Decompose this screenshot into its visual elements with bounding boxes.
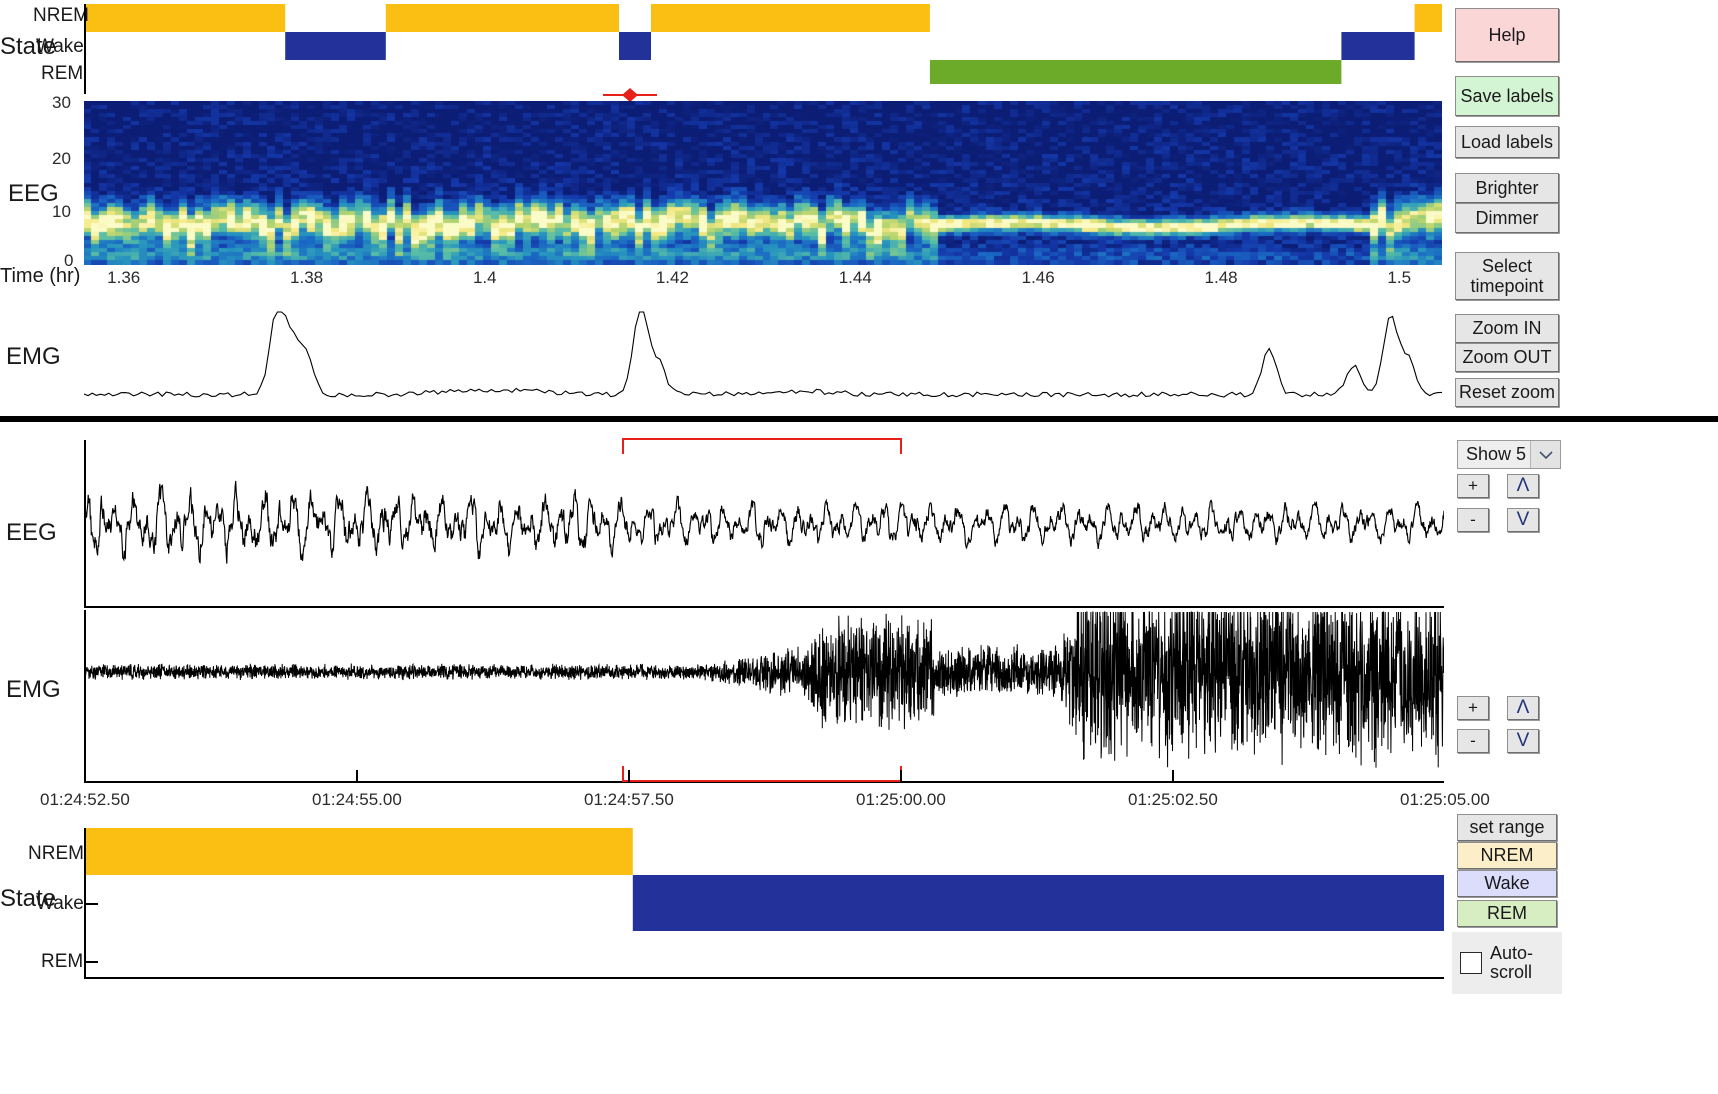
detail-state-axis-bottom [84, 977, 1444, 979]
emg-scale-minus-button[interactable]: - [1457, 729, 1489, 753]
eeg-shift-down-button[interactable]: V [1507, 508, 1539, 532]
detail-eeg-label: EEG [6, 519, 57, 547]
help-button[interactable]: Help [1455, 8, 1559, 62]
detail-time-tickmark-1 [356, 770, 358, 782]
overview-emg-label: EMG [6, 343, 61, 371]
load-labels-button[interactable]: Load labels [1455, 126, 1559, 158]
label-nrem-button[interactable]: NREM [1457, 842, 1557, 869]
detail-eeg-panel[interactable] [84, 440, 1444, 608]
hypnogram-segment-nrem[interactable] [386, 4, 619, 32]
overview-time-tick-6: 1.48 [1205, 268, 1238, 288]
selection-bracket-bottom[interactable] [622, 780, 902, 782]
emg-shift-down-button[interactable]: V [1507, 729, 1539, 753]
save-labels-button[interactable]: Save labels [1455, 76, 1559, 116]
detail-state-tick-nrem: NREM [28, 843, 84, 865]
overview-freq-tick-20: 20 [52, 149, 71, 169]
emg-shift-up-button[interactable]: Λ [1507, 696, 1539, 720]
overview-spectrogram[interactable] [84, 101, 1442, 265]
hypnogram-segment-wake[interactable] [1341, 32, 1414, 60]
detail-time-tickmark-4 [1172, 770, 1174, 782]
detail-time-tick-3: 01:25:00.00 [856, 790, 946, 810]
detail-time-tickmark-2 [628, 770, 630, 782]
detail-time-tick-2: 01:24:57.50 [584, 790, 674, 810]
detail-time-tickmark-3 [900, 770, 902, 782]
detail-time-tick-4: 01:25:02.50 [1128, 790, 1218, 810]
detail-state-panel[interactable] [84, 828, 1444, 978]
overview-hypnogram-panel[interactable] [84, 2, 1442, 88]
overview-freq-tick-30: 30 [52, 93, 71, 113]
overview-state-axis-spine [84, 4, 86, 94]
selection-bracket-top[interactable] [622, 438, 902, 440]
select-timepoint-label: Select timepoint [1470, 256, 1543, 296]
autoscroll-checkbox[interactable] [1460, 952, 1482, 974]
dimmer-button[interactable]: Dimmer [1455, 203, 1559, 233]
overview-time-tick-3: 1.42 [656, 268, 689, 288]
detail-time-tick-5: 01:25:05.00 [1400, 790, 1490, 810]
selection-bracket-bottom-left-tick [622, 766, 624, 782]
detail-state-tick-rem: REM [41, 951, 83, 973]
overview-time-tick-7: 1.5 [1387, 268, 1411, 288]
hypnogram-segment-rem[interactable] [930, 60, 1342, 84]
detail-time-tick-0: 01:24:52.50 [40, 790, 130, 810]
detail-eeg-trace [84, 481, 1444, 564]
autoscroll-label: Auto- scroll [1490, 944, 1533, 982]
detail-state-tick-mark-rem [84, 961, 98, 963]
overview-freq-tick-10: 10 [52, 202, 71, 222]
overview-time-tick-2: 1.4 [473, 268, 497, 288]
chevron-down-icon[interactable] [1530, 441, 1560, 468]
detail-eeg-axis-left [84, 440, 86, 608]
detail-emg-panel[interactable] [84, 610, 1444, 782]
eeg-scale-minus-button[interactable]: - [1457, 508, 1489, 532]
detail-emg-axis-left [84, 610, 86, 782]
set-range-button[interactable]: set range [1457, 814, 1557, 841]
overview-time-tick-1: 1.38 [290, 268, 323, 288]
eeg-shift-up-button[interactable]: Λ [1507, 474, 1539, 498]
hypnogram-segment-nrem[interactable] [1415, 4, 1442, 32]
brighter-button[interactable]: Brighter [1455, 173, 1559, 203]
hypnogram-segment-nrem[interactable] [651, 4, 930, 32]
zoom-in-button[interactable]: Zoom IN [1455, 314, 1559, 343]
overview-emg-trace [84, 312, 1442, 397]
overview-state-axis-label: State [0, 33, 56, 61]
hypnogram-bars[interactable] [84, 2, 1442, 88]
reset-zoom-button[interactable]: Reset zoom [1455, 378, 1559, 407]
overview-state-tick-rem: REM [41, 63, 83, 85]
hypnogram-segment-wake[interactable] [619, 32, 651, 60]
overview-time-tick-4: 1.44 [839, 268, 872, 288]
overview-time-tick-0: 1.36 [107, 268, 140, 288]
autoscroll-checkbox-row[interactable]: Auto- scroll [1452, 932, 1562, 994]
detail-eeg-axis-bottom [84, 606, 1444, 608]
detail-state-segment-nrem[interactable] [84, 828, 633, 875]
selection-bracket-top-right-tick [900, 438, 902, 454]
hypnogram-segment-wake[interactable] [285, 32, 386, 60]
detail-emg-trace [84, 612, 1444, 768]
show-channels-select[interactable]: Show 5 ... [1457, 440, 1561, 469]
detail-state-segment-wake[interactable] [633, 875, 1444, 931]
overview-state-tick-nrem: NREM [33, 5, 89, 27]
hypnogram-segment-nrem[interactable] [84, 4, 285, 32]
label-rem-button[interactable]: REM [1457, 900, 1557, 927]
panel-separator [0, 416, 1718, 422]
overview-time-axis-label: Time (hr) [0, 265, 80, 288]
overview-emg-panel[interactable] [84, 300, 1442, 412]
detail-time-tick-1: 01:24:55.00 [312, 790, 402, 810]
overview-time-tick-5: 1.46 [1022, 268, 1055, 288]
select-timepoint-button[interactable]: Select timepoint [1455, 252, 1559, 300]
eeg-scale-plus-button[interactable]: + [1457, 474, 1489, 498]
label-wake-button[interactable]: Wake [1457, 870, 1557, 897]
zoom-out-button[interactable]: Zoom OUT [1455, 343, 1559, 372]
selection-bracket-top-left-tick [622, 438, 624, 454]
detail-emg-label: EMG [6, 676, 61, 704]
detail-state-tick-mark-wake [84, 903, 98, 905]
emg-scale-plus-button[interactable]: + [1457, 696, 1489, 720]
detail-state-axis-label: State [0, 885, 56, 913]
